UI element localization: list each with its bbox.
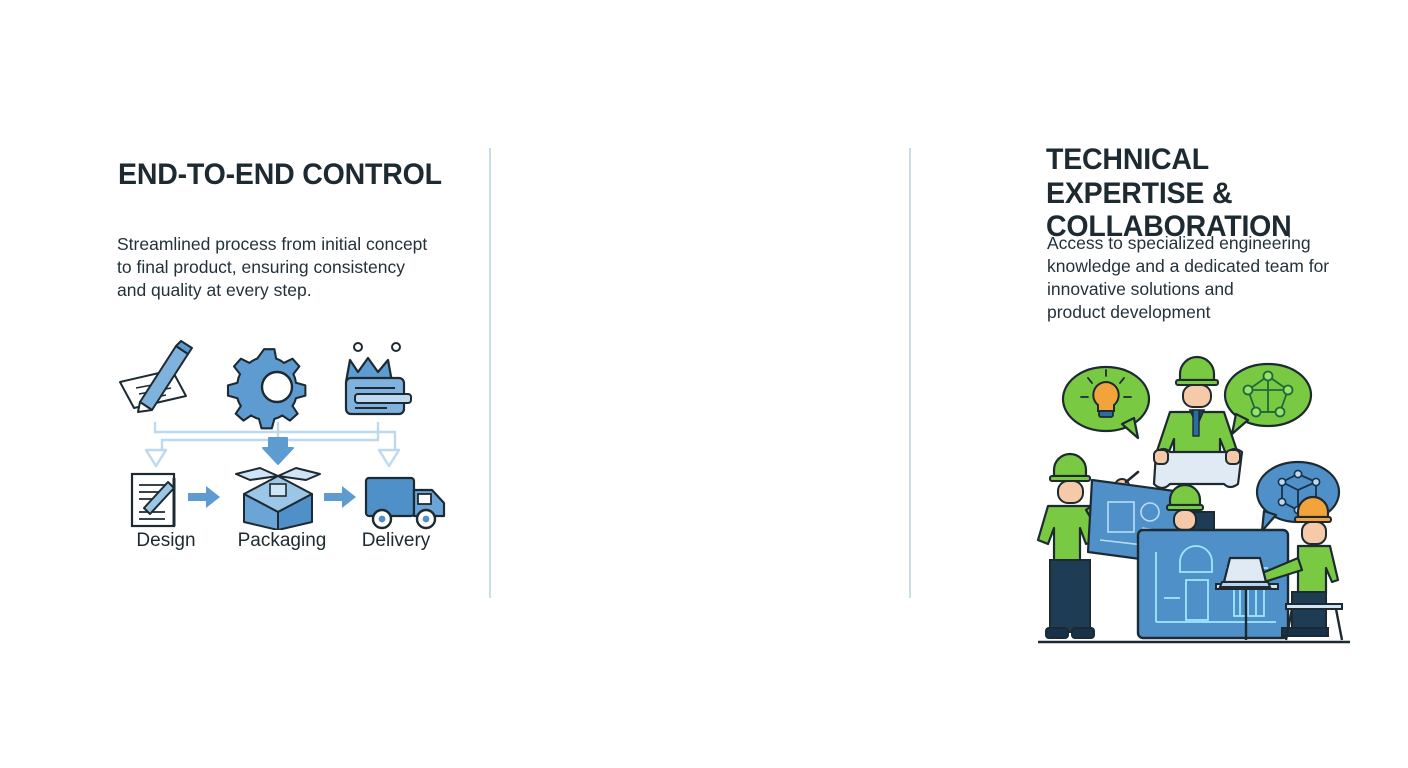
body-line: to final product, ensuring consistency: [117, 256, 457, 279]
pencil-document-icon: [120, 341, 192, 412]
panel-body-end-to-end-control: Streamlined process from initial concept…: [117, 233, 457, 302]
step-label-packaging: Packaging: [222, 530, 342, 552]
infographic-board: END-TO-END CONTROL Streamlined process f…: [0, 0, 1408, 768]
panel-risk-mitigation: RISK MITIGATION & RELIABILITY Risk Mitig…: [910, 0, 1408, 768]
flow-arrow-2: [324, 486, 356, 508]
panel-title-end-to-end-control: END-TO-END CONTROL: [118, 158, 442, 192]
gear-icon: [228, 349, 305, 428]
crown-clipboard-icon: [346, 343, 411, 414]
open-box-icon: [236, 468, 320, 530]
panel-technical-expertise: TECHNICAL EXPERTISE & COLLABORATION Acce…: [490, 0, 910, 768]
body-line: and quality at every step.: [117, 279, 457, 302]
flow-arrow-1: [188, 486, 220, 508]
step-label-design: Design: [110, 530, 222, 552]
document-pencil-icon: [132, 474, 174, 526]
delivery-truck-icon: [366, 478, 444, 528]
process-flow-diagram: [110, 330, 450, 530]
process-step-labels: Design Packaging Delivery: [110, 530, 450, 552]
panel-end-to-end-control: END-TO-END CONTROL Streamlined process f…: [0, 0, 490, 768]
body-line: Streamlined process from initial concept: [117, 233, 457, 256]
step-label-delivery: Delivery: [342, 530, 450, 552]
